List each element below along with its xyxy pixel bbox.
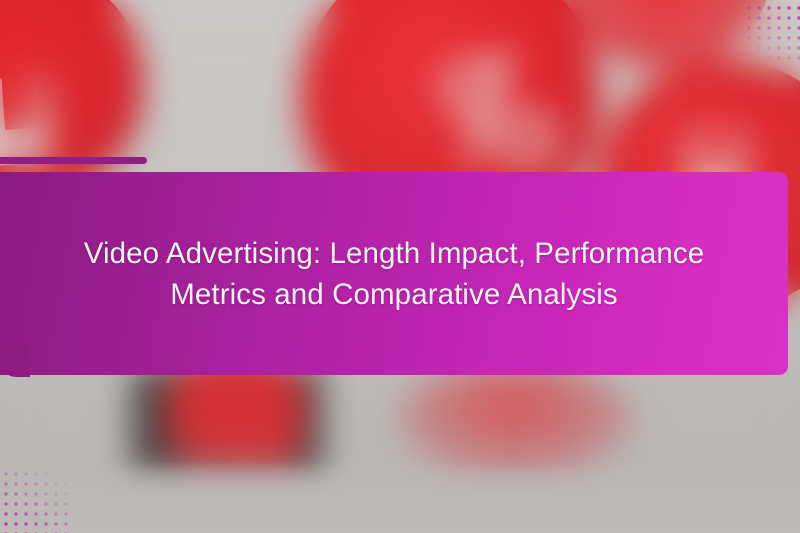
page-title: Video Advertising: Length Impact, Perfor…	[64, 233, 724, 315]
background-bottom-fade	[0, 461, 800, 533]
title-banner: Video Advertising: Length Impact, Perfor…	[0, 172, 788, 375]
banner-corner-notch	[0, 343, 30, 377]
accent-bar	[0, 157, 147, 164]
slide-canvas: Video Advertising: Length Impact, Perfor…	[0, 0, 800, 533]
